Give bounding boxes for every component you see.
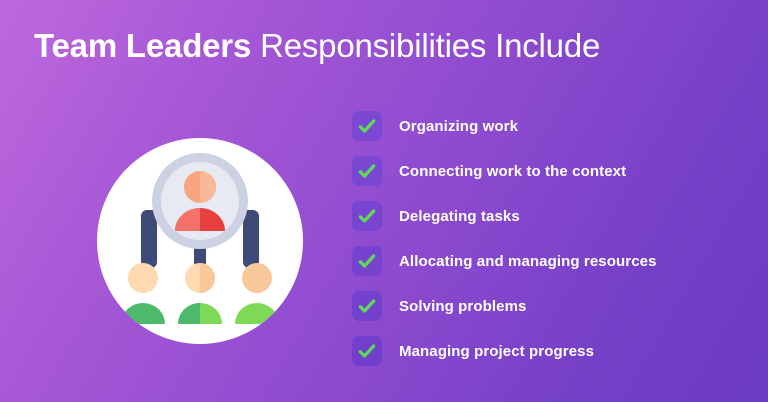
team-member-left (121, 263, 165, 324)
checklist-item-label: Solving problems (399, 298, 526, 315)
page-title: Team Leaders Responsibilities Include (34, 26, 600, 66)
check-icon[interactable] (352, 156, 382, 186)
checklist-item[interactable]: Allocating and managing resources (352, 246, 742, 276)
checklist-item-label: Organizing work (399, 118, 518, 135)
team-member-center (178, 263, 222, 324)
checklist-item-label: Connecting work to the context (399, 163, 626, 180)
check-icon[interactable] (352, 246, 382, 276)
check-icon[interactable] (352, 291, 382, 321)
checklist-item[interactable]: Solving problems (352, 291, 742, 321)
checklist-item[interactable]: Managing project progress (352, 336, 742, 366)
checklist-item[interactable]: Connecting work to the context (352, 156, 742, 186)
page-title-light: Responsibilities Include (260, 27, 600, 64)
check-icon[interactable] (352, 201, 382, 231)
org-chart-graphic (97, 138, 303, 344)
banner-root: Team Leaders Responsibilities Include (0, 0, 768, 402)
illustration (97, 138, 303, 344)
check-icon[interactable] (352, 111, 382, 141)
page-title-strong: Team Leaders (34, 27, 251, 64)
checklist-item-label: Delegating tasks (399, 208, 520, 225)
responsibilities-checklist: Organizing work Connecting work to the c… (352, 111, 742, 366)
check-icon[interactable] (352, 336, 382, 366)
checklist-item-label: Managing project progress (399, 343, 594, 360)
checklist-item-label: Allocating and managing resources (399, 253, 657, 270)
leader-badge (152, 153, 248, 249)
checklist-item[interactable]: Delegating tasks (352, 201, 742, 231)
team-member-right (235, 263, 279, 324)
checklist-item[interactable]: Organizing work (352, 111, 742, 141)
